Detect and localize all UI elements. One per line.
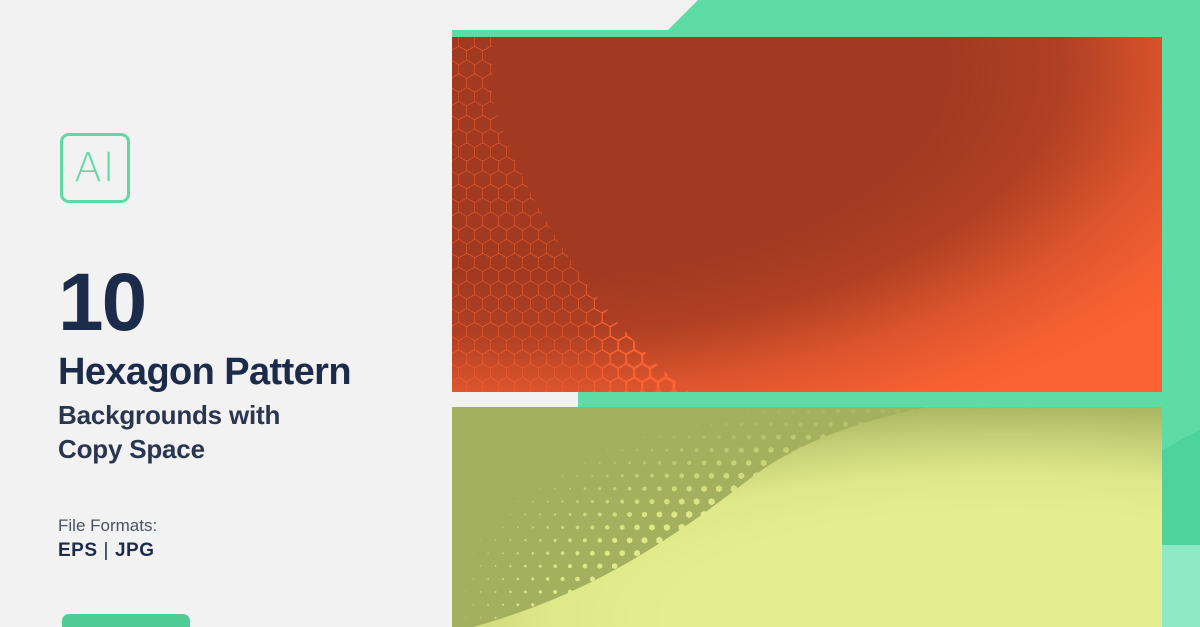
ai-badge-label: AI xyxy=(74,148,115,188)
adobe-illustrator-badge-icon: AI xyxy=(60,133,130,203)
page-subtitle-line-1: Backgrounds with xyxy=(58,398,280,432)
item-count: 10 xyxy=(58,264,145,342)
file-formats-value: EPS|JPG xyxy=(58,540,155,562)
orange-hexagon-svg xyxy=(452,37,1162,392)
format-separator: | xyxy=(98,540,115,561)
page-subtitle: Backgrounds with Copy Space xyxy=(58,398,280,467)
cta-button[interactable] xyxy=(62,614,190,627)
format-eps: EPS xyxy=(58,540,98,561)
format-jpg: JPG xyxy=(115,540,155,561)
page-title: Hexagon Pattern xyxy=(58,353,351,393)
product-info-panel: AI 10 Hexagon Pattern Backgrounds with C… xyxy=(0,0,452,627)
preview-orange-hexagon-pattern[interactable] xyxy=(452,37,1162,392)
file-formats-label: File Formats: xyxy=(58,516,157,536)
green-hexagon-svg xyxy=(452,407,1162,627)
page-subtitle-line-2: Copy Space xyxy=(58,432,280,466)
preview-green-hexagon-pattern[interactable] xyxy=(452,407,1162,627)
